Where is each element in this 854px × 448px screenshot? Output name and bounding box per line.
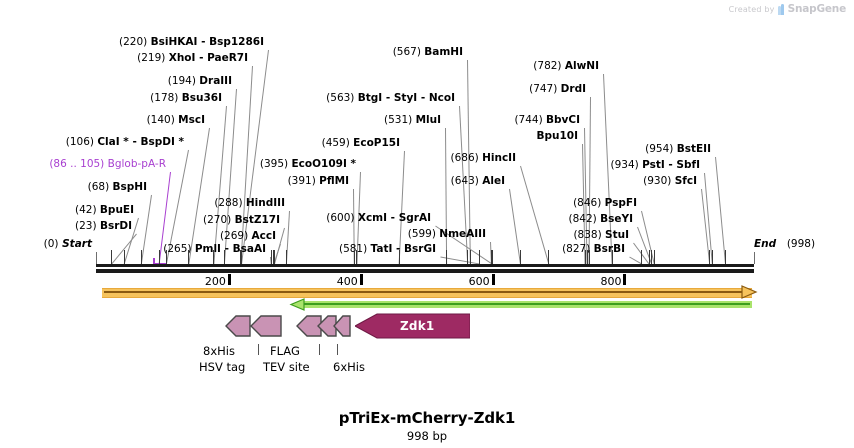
snapgene-watermark: Created by SnapGene xyxy=(729,3,846,15)
enzyme-position: (288) xyxy=(214,197,246,209)
enzyme-label-stui: (838) StuI xyxy=(573,229,629,241)
enzyme-name: XcmI - SgrAI xyxy=(358,212,431,224)
enzyme-site-tick xyxy=(240,250,241,264)
enzyme-position: (563) xyxy=(326,92,358,104)
enzyme-label-msci: (140) MscI xyxy=(147,114,205,126)
enzyme-name: BstEII xyxy=(677,143,711,155)
transcript-track-core xyxy=(302,303,750,305)
enzyme-site-tick xyxy=(166,250,167,264)
enzyme-position: (838) xyxy=(573,229,605,241)
enzyme-name: PspFI xyxy=(605,197,637,209)
enzyme-position: (930) xyxy=(643,175,675,187)
enzyme-site-tick xyxy=(520,250,521,264)
enzyme-name: PstI - SbfI xyxy=(642,159,700,171)
enzyme-site-tick xyxy=(587,250,588,264)
ruler-tick-mark xyxy=(360,274,363,285)
promoter-track-bar xyxy=(102,288,752,298)
enzyme-position: (842) xyxy=(569,213,601,225)
ruler-label-200: 200 xyxy=(205,275,226,288)
enzyme-site-tick xyxy=(589,250,590,264)
enzyme-name: BtgI - StyI - NcoI xyxy=(358,92,455,104)
enzyme-name: PflMI xyxy=(319,175,349,187)
enzyme-site-tick xyxy=(111,250,112,264)
enzyme-name: AlwNI xyxy=(565,60,599,72)
enzyme-name: BpuEI xyxy=(100,204,134,216)
enzyme-leader-line xyxy=(715,157,726,264)
enzyme-name: AccI xyxy=(252,230,276,242)
enzyme-label-bamhi: (567) BamHI xyxy=(393,46,463,58)
enzyme-position: (42) xyxy=(75,204,100,216)
enzyme-label-bglobpar: (86 .. 105) Bglob-pA-R xyxy=(49,158,166,170)
ruler-tick-mark xyxy=(623,274,626,285)
enzyme-label-ecoo109i: (395) EcoO109I * xyxy=(260,158,356,170)
feature-arrow-label-zdk1: Zdk1 xyxy=(400,319,434,333)
enzyme-label-hincii: (686) HincII xyxy=(451,152,516,164)
feature-connector-tev xyxy=(319,344,320,355)
enzyme-name: MluI xyxy=(416,114,441,126)
enzyme-position: (140) xyxy=(147,114,179,126)
end-leader-line xyxy=(754,252,755,264)
enzyme-label-pflmi: (391) PflMI xyxy=(288,175,349,187)
plasmid-map: Created by SnapGene (220) BsiHKAI - Bsp1… xyxy=(0,0,854,448)
enzyme-position: (269) xyxy=(220,230,252,242)
enzyme-label-pmli: (265) PmlI - BsaAI xyxy=(163,243,266,255)
enzyme-site-tick xyxy=(612,250,613,264)
enzyme-site-tick xyxy=(446,250,447,264)
enzyme-name: TatI - BsrGI xyxy=(371,243,436,255)
ruler-label-800: 800 xyxy=(600,275,621,288)
feature-arrow-hsvtag[interactable] xyxy=(250,315,282,337)
enzyme-position: (178) xyxy=(150,92,182,104)
enzyme-name: Bpu10I xyxy=(536,130,578,142)
promoter-arrowhead-right-icon xyxy=(742,286,758,298)
enzyme-name: EcoP15I xyxy=(353,137,400,149)
enzyme-site-tick xyxy=(224,250,225,264)
enzyme-position: (744) xyxy=(514,114,546,126)
enzyme-label-bpu10i: Bpu10I xyxy=(536,130,578,142)
ruler-label-400: 400 xyxy=(337,275,358,288)
enzyme-label-bseyi: (842) BseYI xyxy=(569,213,633,225)
enzyme-position: (600) xyxy=(326,212,358,224)
feature-label-hsv-tag: HSV tag xyxy=(199,360,245,374)
page-title: pTriEx-mCherry-Zdk1 xyxy=(0,409,854,427)
enzyme-name: MscI xyxy=(178,114,205,126)
enzyme-name: Bsu36I xyxy=(182,92,222,104)
enzyme-site-tick xyxy=(712,250,713,264)
enzyme-site-tick xyxy=(213,250,214,264)
ruler-tick-mark xyxy=(492,274,495,285)
enzyme-label-bbvci: (744) BbvCI xyxy=(514,114,580,126)
enzyme-label-xhoi: (219) XhoI - PaeR7I xyxy=(137,52,248,64)
enzyme-site-tick xyxy=(141,250,142,264)
enzyme-label-alei: (643) AleI xyxy=(451,175,505,187)
enzyme-name: Bglob-pA-R xyxy=(108,158,166,170)
enzyme-site-tick xyxy=(188,250,189,264)
enzyme-name: BseYI xyxy=(600,213,633,225)
enzyme-label-bsihkai: (220) BsiHKAI - Bsp1286I xyxy=(119,36,264,48)
watermark-brand: SnapGene xyxy=(788,3,846,15)
enzyme-label-bsteii: (954) BstEII xyxy=(645,143,711,155)
enzyme-name: StuI xyxy=(605,229,629,241)
enzyme-label-bpuei: (42) BpuEI xyxy=(75,204,134,216)
enzyme-label-clai: (106) ClaI * - BspDI * xyxy=(66,136,184,148)
enzyme-label-bsrbi: (827) BsrBI xyxy=(562,243,625,255)
enzyme-label-drdi: (747) DrdI xyxy=(529,83,586,95)
enzyme-position: (395) xyxy=(260,158,292,170)
enzyme-leader-line xyxy=(520,166,549,264)
plasmid-length: 998 bp xyxy=(0,429,854,443)
feature-label-8xhis: 8xHis xyxy=(203,344,235,358)
enzyme-position: (265) xyxy=(163,243,195,255)
enzyme-name: DraIII xyxy=(199,75,232,87)
enzyme-label-acci: (269) AccI xyxy=(220,230,276,242)
enzyme-site-tick xyxy=(470,250,471,264)
enzyme-position: (219) xyxy=(137,52,169,64)
ruler-tick-mark xyxy=(228,274,231,285)
enzyme-name: NmeAIII xyxy=(439,228,486,240)
ruler-label-600: 600 xyxy=(469,275,490,288)
start-leader-line xyxy=(96,252,97,264)
watermark-created-by: Created by xyxy=(729,5,775,14)
enzyme-leader-line xyxy=(141,195,152,264)
enzyme-name: BbvCI xyxy=(546,114,580,126)
start-label: (0) Start xyxy=(44,238,92,250)
enzyme-site-tick xyxy=(354,250,355,264)
promoter-track-core xyxy=(104,291,745,293)
enzyme-name: BspHI xyxy=(113,181,147,193)
enzyme-position: (194) xyxy=(168,75,200,87)
enzyme-site-tick xyxy=(479,250,480,264)
enzyme-name: SfcI xyxy=(675,175,697,187)
enzyme-name: EcoO109I * xyxy=(291,158,356,170)
enzyme-label-bstz17i: (270) BstZ17I xyxy=(203,214,280,226)
enzyme-site-tick xyxy=(124,250,125,264)
enzyme-position: (106) xyxy=(66,136,98,148)
enzyme-label-psti: (934) PstI - SbfI xyxy=(611,159,701,171)
enzyme-position: (599) xyxy=(408,228,440,240)
enzyme-site-tick xyxy=(356,250,357,264)
enzyme-label-bsrdi: (23) BsrDI xyxy=(75,220,132,232)
enzyme-name: BstZ17I xyxy=(235,214,280,226)
enzyme-site-tick xyxy=(641,250,642,264)
feature-connector-6xhis xyxy=(337,344,338,355)
enzyme-name: BamHI xyxy=(424,46,463,58)
enzyme-site-tick xyxy=(654,250,655,264)
enzyme-site-tick xyxy=(709,250,710,264)
enzyme-label-alwni: (782) AlwNI xyxy=(533,60,599,72)
enzyme-site-tick xyxy=(649,250,650,264)
enzyme-position: (270) xyxy=(203,214,235,226)
enzyme-site-tick xyxy=(286,250,287,264)
enzyme-site-tick xyxy=(273,250,274,264)
enzyme-site-tick xyxy=(491,250,492,264)
enzyme-position: (531) xyxy=(384,114,416,126)
enzyme-position: (643) xyxy=(451,175,483,187)
enzyme-position: (23) xyxy=(75,220,100,232)
enzyme-site-tick xyxy=(651,250,652,264)
feature-label-flag: FLAG xyxy=(270,344,300,358)
enzyme-position: (459) xyxy=(322,137,354,149)
enzyme-position: (220) xyxy=(119,36,151,48)
enzyme-site-tick xyxy=(585,250,586,264)
feature-arrow-8xhis[interactable] xyxy=(225,315,251,337)
enzyme-site-tick xyxy=(725,250,726,264)
enzyme-label-bsphi: (68) BspHI xyxy=(88,181,147,193)
enzyme-name: BsiHKAI - Bsp1286I xyxy=(151,36,264,48)
enzyme-label-xcmi: (600) XcmI - SgrAI xyxy=(326,212,431,224)
enzyme-label-bsu36i: (178) Bsu36I xyxy=(150,92,222,104)
enzyme-name: HindIII xyxy=(246,197,285,209)
enzyme-label-ecop15i: (459) EcoP15I xyxy=(322,137,400,149)
enzyme-position: (86 .. 105) xyxy=(49,158,107,170)
enzyme-position: (782) xyxy=(533,60,565,72)
feature-connector-hsv xyxy=(258,344,259,355)
enzyme-position: (567) xyxy=(393,46,425,58)
enzyme-label-draiii: (194) DraIII xyxy=(168,75,232,87)
enzyme-leader-line xyxy=(445,128,447,264)
enzyme-name: DrdI xyxy=(561,83,586,95)
enzyme-name: XhoI - PaeR7I xyxy=(169,52,248,64)
enzyme-name: PmlI - BsaAI xyxy=(195,243,266,255)
transcript-arrowhead-left-icon xyxy=(290,299,304,310)
enzyme-label-pspfi: (846) PspFI xyxy=(573,197,637,209)
enzyme-position: (934) xyxy=(611,159,643,171)
enzyme-position: (686) xyxy=(451,152,483,164)
enzyme-label-mlui: (531) MluI xyxy=(384,114,441,126)
feature-label-tev-site: TEV site xyxy=(263,360,310,374)
enzyme-site-tick xyxy=(467,250,468,264)
feature-arrow-6xhis[interactable] xyxy=(333,315,351,337)
enzyme-position: (747) xyxy=(529,83,561,95)
enzyme-label-nmeaiii: (599) NmeAIII xyxy=(408,228,486,240)
enzyme-site-tick xyxy=(159,250,160,264)
enzyme-position: (954) xyxy=(645,143,677,155)
enzyme-site-tick xyxy=(548,250,549,264)
enzyme-site-tick xyxy=(399,250,400,264)
enzyme-label-sfci: (930) SfcI xyxy=(643,175,697,187)
enzyme-name: HincII xyxy=(482,152,516,164)
backbone-line-bottom xyxy=(96,269,754,273)
enzyme-position: (391) xyxy=(288,175,320,187)
enzyme-name: AleI xyxy=(482,175,505,187)
enzyme-site-tick xyxy=(271,250,272,264)
enzyme-name: ClaI * - BspDI * xyxy=(97,136,184,148)
enzyme-label-hindiii: (288) HindIII xyxy=(214,197,285,209)
enzyme-label-btgi: (563) BtgI - StyI - NcoI xyxy=(326,92,455,104)
enzyme-position: (846) xyxy=(573,197,605,209)
backbone-line-top xyxy=(96,264,754,267)
enzyme-name: BsrBI xyxy=(594,243,625,255)
snapgene-logo-icon xyxy=(778,4,785,15)
end-label: End (998) xyxy=(754,238,815,250)
enzyme-name: BsrDI xyxy=(100,220,132,232)
feature-label-6xhis: 6xHis xyxy=(333,360,365,374)
enzyme-position: (68) xyxy=(88,181,113,193)
